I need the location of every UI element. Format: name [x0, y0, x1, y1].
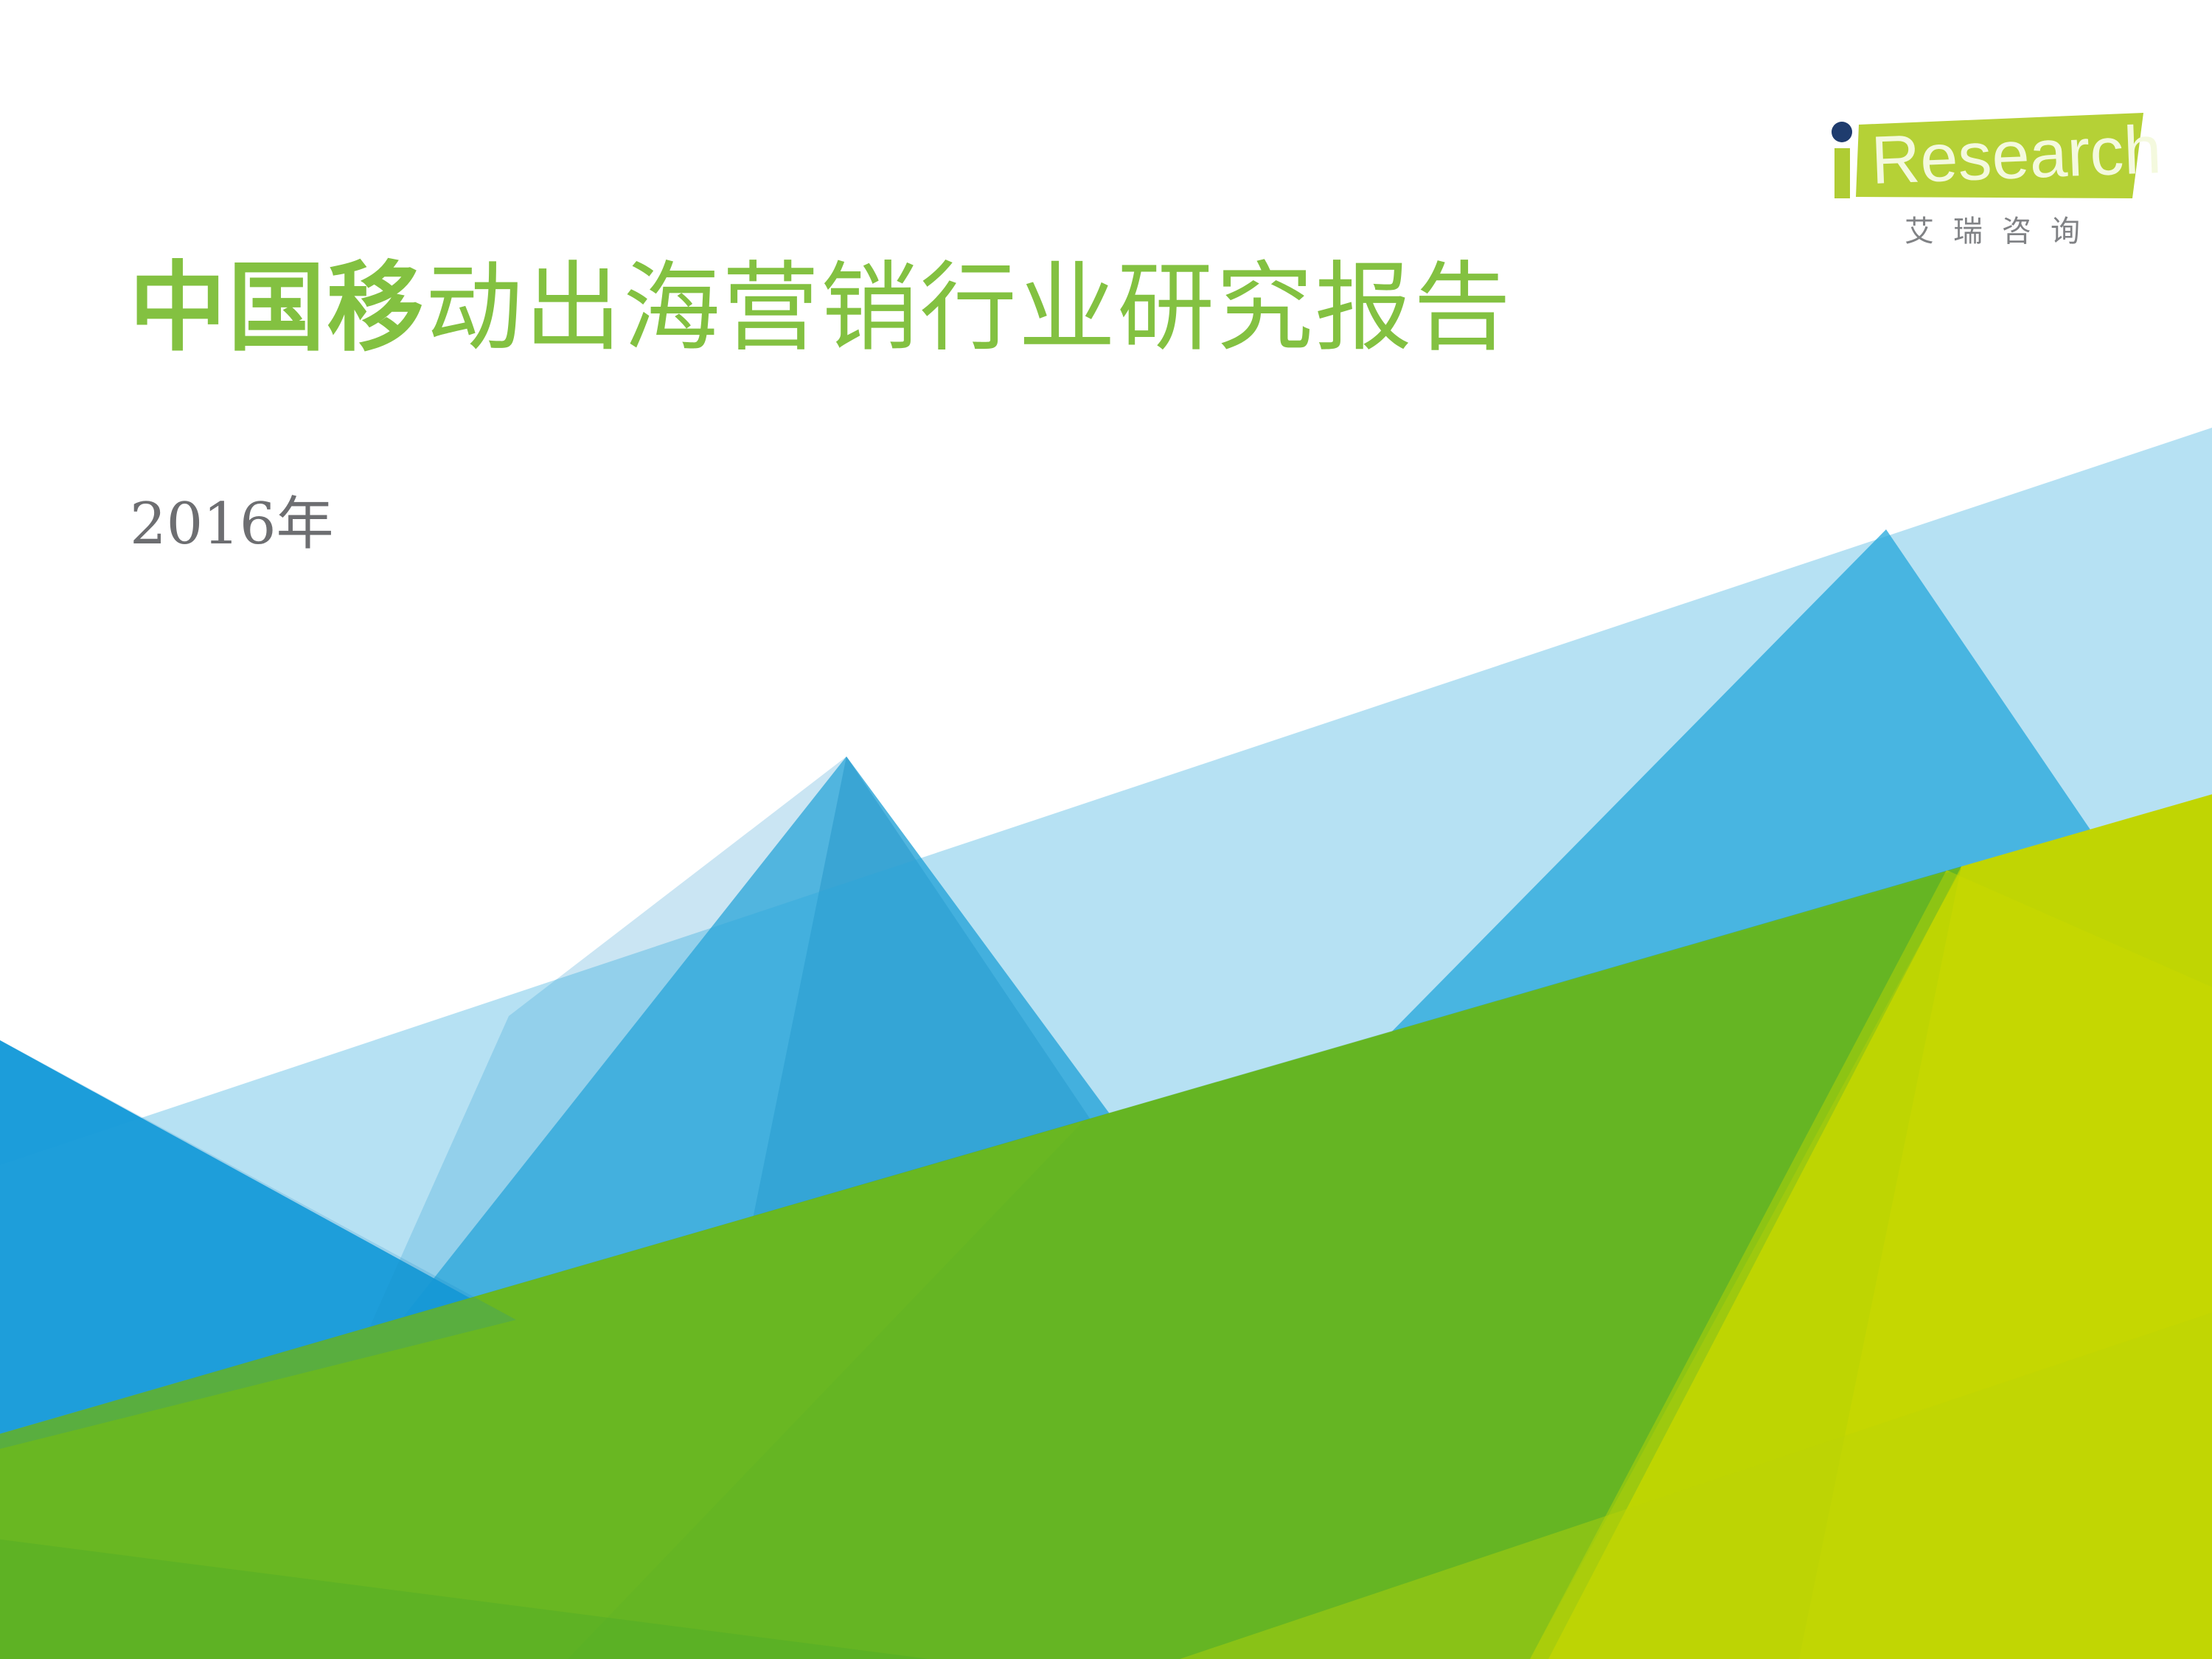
- shape-green-bright-right: [1548, 782, 2212, 1659]
- slide-canvas: Research 艾瑞咨询 中国移动出海营销行业研究报告 2016年: [0, 0, 2212, 1659]
- iresearch-logo: Research 艾瑞咨询: [1810, 107, 2179, 265]
- iresearch-badge-icon: Research: [1810, 107, 2179, 210]
- shape-blue-peak-large: [774, 529, 2212, 1659]
- page-title-emphasis: 中国移: [129, 251, 425, 365]
- shape-blue-peak-small: [133, 757, 1512, 1659]
- logo-wordmark: Research: [1870, 112, 2163, 198]
- shape-green-bottom-left-tone: [0, 1534, 929, 1659]
- shape-green-slab-lower-right: [1530, 870, 2212, 1659]
- page-title: 中国移动出海营销行业研究报告: [129, 260, 1512, 357]
- logo-chinese-name: 艾瑞咨询: [1819, 207, 2166, 250]
- shape-blue-slope-right: [0, 413, 2212, 1659]
- logo-i-dot-icon: [1832, 122, 1852, 142]
- shape-green-main: [0, 782, 2212, 1659]
- shape-blue-overlap-b: [664, 757, 1246, 1659]
- shape-green-lower-mid: [568, 869, 1961, 1659]
- shape-green-bottom-wash: [1180, 1298, 2212, 1659]
- shape-blue-haze-left: [0, 1016, 516, 1460]
- logo-i-stem-icon: [1834, 148, 1850, 198]
- shape-blue-slope-left: [0, 1016, 1128, 1659]
- iresearch-logo-mark: Research: [1810, 107, 2179, 210]
- page-title-rest: 动出海营销行业研究报告: [425, 251, 1512, 365]
- shape-blue-overlap-a: [221, 757, 1128, 1659]
- shape-green-grass: [0, 866, 1961, 1659]
- page-subtitle: 2016年: [130, 495, 334, 553]
